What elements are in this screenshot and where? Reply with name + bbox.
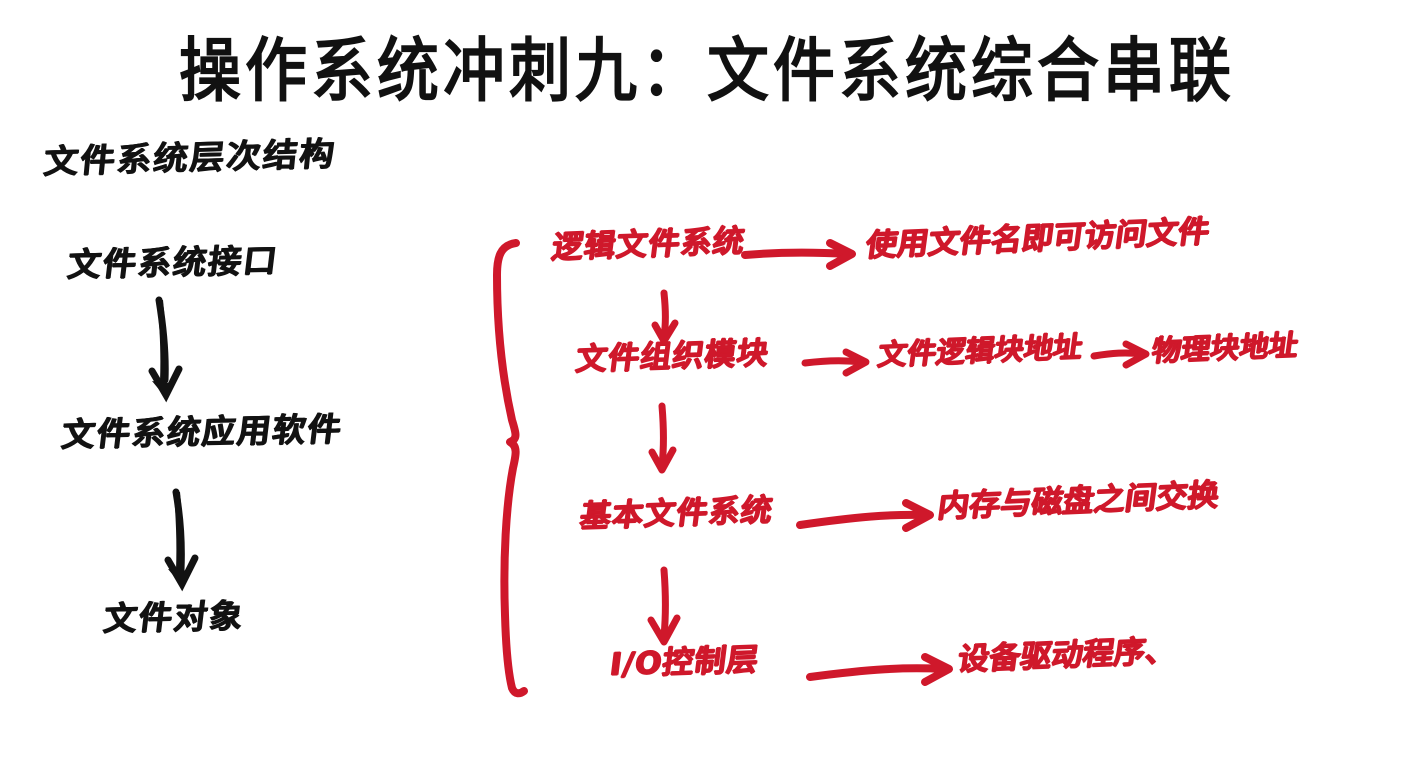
red-layer-basic-file-system: 基本文件系统 xyxy=(578,495,775,533)
red-desc-logical-block-address: 文件逻辑块地址 xyxy=(876,333,1084,370)
red-arrow-down-2-icon xyxy=(652,406,673,470)
red-arrow-right-5-icon xyxy=(810,657,949,682)
red-arrow-right-3-icon xyxy=(1094,344,1146,365)
red-layer-logical-file-system: 逻辑文件系统 xyxy=(550,226,747,264)
left-column-heading: 文件系统层次结构 xyxy=(42,137,337,178)
red-desc-physical-block-address: 物理块地址 xyxy=(1150,331,1300,366)
left-node-interface: 文件系统接口 xyxy=(66,244,281,281)
page-title: 操作系统冲刺九：文件系统综合串联 xyxy=(0,14,1414,115)
red-arrow-right-4-icon xyxy=(800,503,930,528)
red-arrow-down-1-icon xyxy=(655,293,675,341)
red-desc-access-by-filename: 使用文件名即可访问文件 xyxy=(864,217,1211,262)
red-desc-device-driver: 设备驱动程序、 xyxy=(956,636,1179,676)
red-arrow-right-1-icon xyxy=(745,243,852,266)
red-desc-memory-disk-exchange: 内存与磁盘之间交换 xyxy=(936,480,1221,523)
left-node-application-software: 文件系统应用软件 xyxy=(60,412,345,451)
left-arrow-1-icon xyxy=(152,300,173,398)
red-arrow-down-3-icon xyxy=(651,570,677,642)
left-arrow-1-head-icon xyxy=(152,300,179,395)
left-node-file-object: 文件对象 xyxy=(102,599,246,635)
red-layer-file-organization-module: 文件组织模块 xyxy=(574,338,771,376)
red-curly-brace-icon xyxy=(497,243,524,693)
whiteboard-canvas: 操作系统冲刺九：文件系统综合串联 文件系统层次结构 文件系统接口 文件系统应用软… xyxy=(0,0,1414,759)
red-arrow-right-2-icon xyxy=(805,352,866,373)
red-layer-io-control: I/O控制层 xyxy=(608,645,761,681)
left-arrow-2-icon xyxy=(168,492,189,586)
left-arrow-2-head-icon xyxy=(168,492,195,584)
